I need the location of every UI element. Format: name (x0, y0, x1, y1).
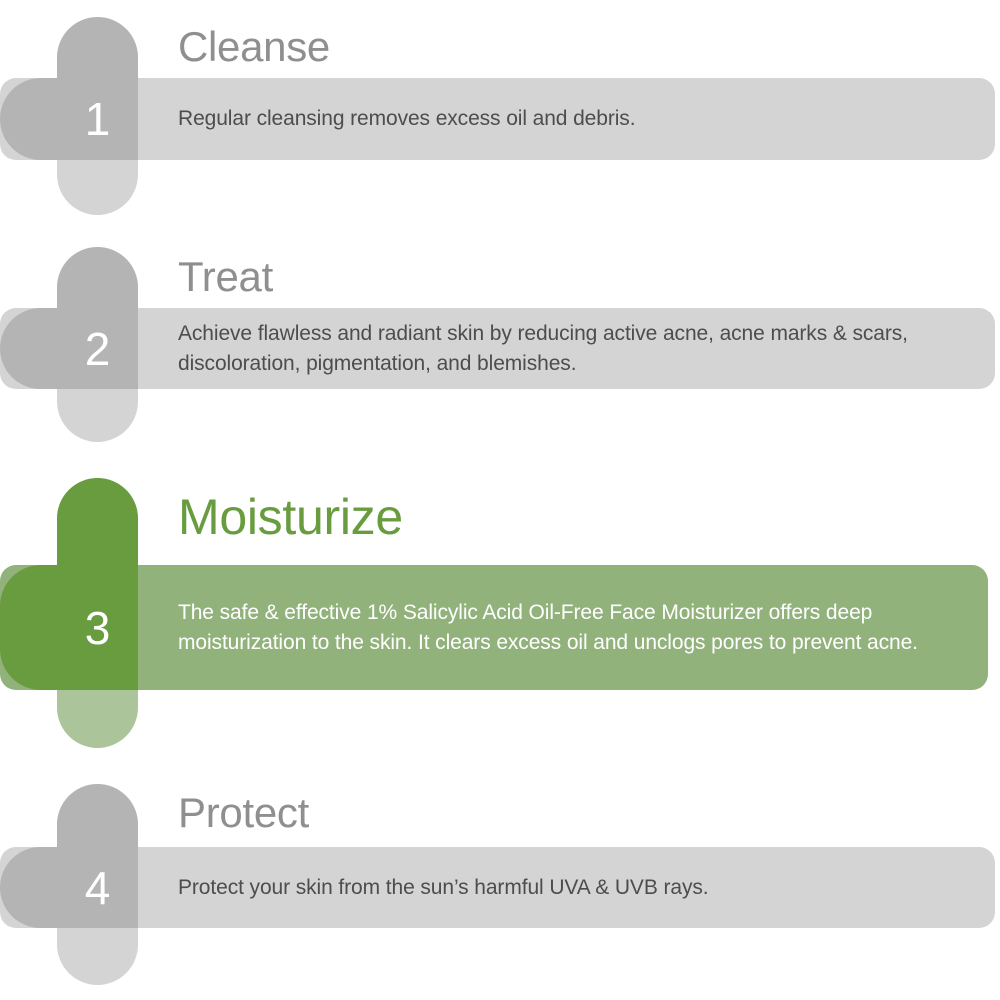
step-number-label: 4 (57, 865, 138, 911)
step-description-bar: Protect your skin from the sun’s harmful… (0, 847, 995, 928)
step-number-label: 1 (57, 96, 138, 142)
step-number-label: 2 (57, 326, 138, 372)
step-heading: Cleanse (178, 26, 330, 68)
step-number-badge[interactable]: 2 (0, 308, 138, 389)
step-description-text: Regular cleansing removes excess oil and… (178, 104, 965, 134)
step-description-bar: Regular cleansing removes excess oil and… (0, 78, 995, 160)
step-description-text: The safe & effective 1% Salicylic Acid O… (178, 598, 958, 658)
skincare-routine-infographic: Regular cleansing removes excess oil and… (0, 0, 1000, 1000)
step-number-badge[interactable]: 4 (0, 847, 138, 928)
step-number-badge[interactable]: 3 (0, 565, 138, 690)
step-heading: Moisturize (178, 492, 403, 542)
step-number-label: 3 (57, 605, 138, 651)
step-description-text: Protect your skin from the sun’s harmful… (178, 873, 965, 903)
step-description-text: Achieve flawless and radiant skin by red… (178, 319, 965, 379)
step-description-bar: The safe & effective 1% Salicylic Acid O… (0, 565, 988, 690)
step-heading: Treat (178, 256, 273, 298)
step-description-bar: Achieve flawless and radiant skin by red… (0, 308, 995, 389)
step-heading: Protect (178, 792, 309, 834)
step-number-badge[interactable]: 1 (0, 78, 138, 160)
